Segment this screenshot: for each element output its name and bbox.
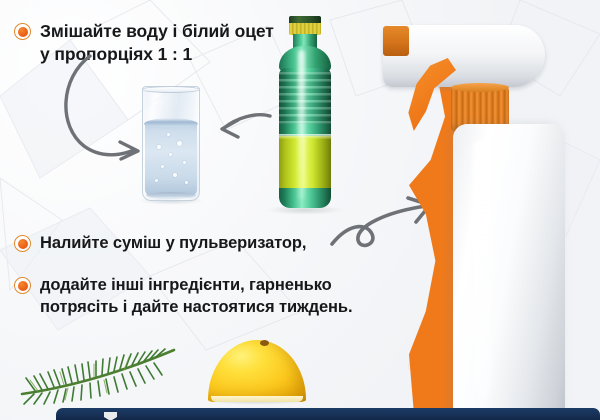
step-3-row: додайте інші інгредієнти, гарненько потр… xyxy=(14,274,364,318)
lemon-peel xyxy=(208,340,306,402)
glass-rim xyxy=(142,86,200,93)
glass-body xyxy=(142,86,200,201)
bullet-dot-icon xyxy=(14,235,31,252)
spray-bottle-gloss xyxy=(473,140,491,400)
glass-water-surface xyxy=(144,118,198,127)
step-3-text: додайте інші інгредієнти, гарненько потр… xyxy=(40,274,364,318)
bottle-liquid-surface xyxy=(279,134,331,139)
chevron-mark-icon xyxy=(104,412,117,420)
vinegar-bottle xyxy=(270,16,340,212)
bottom-bar xyxy=(56,408,600,420)
step-1-text: Змішайте воду і білий оцет у пропорціях … xyxy=(40,20,274,66)
bottle-highlight xyxy=(298,50,305,200)
lemon-stem xyxy=(260,340,269,346)
spray-bottle-body xyxy=(453,124,565,420)
glass-water xyxy=(145,122,197,197)
spray-bottle-collar-top xyxy=(451,83,509,92)
lemon-half xyxy=(208,340,306,402)
bullet-dot-icon xyxy=(14,23,31,40)
glass-base xyxy=(146,192,196,199)
spray-bottle-nozzle xyxy=(383,26,409,56)
bullet-dot-icon xyxy=(14,277,31,294)
spray-bottle xyxy=(355,0,600,420)
rosemary-sprig xyxy=(8,344,188,406)
bottle-liquid xyxy=(279,136,331,188)
lemon-cut-surface xyxy=(211,396,303,402)
infographic-canvas: Змішайте воду і білий оцет у пропорціях … xyxy=(0,0,600,420)
step-2-row: Налийте суміш у пульверизатор, xyxy=(14,232,344,254)
bottle-ribs xyxy=(279,72,331,124)
step-1-row: Змішайте воду і білий оцет у пропорціях … xyxy=(14,20,274,66)
step-2-text: Налийте суміш у пульверизатор, xyxy=(40,232,306,254)
glass-of-water xyxy=(142,86,200,201)
bottle-body xyxy=(279,68,331,208)
